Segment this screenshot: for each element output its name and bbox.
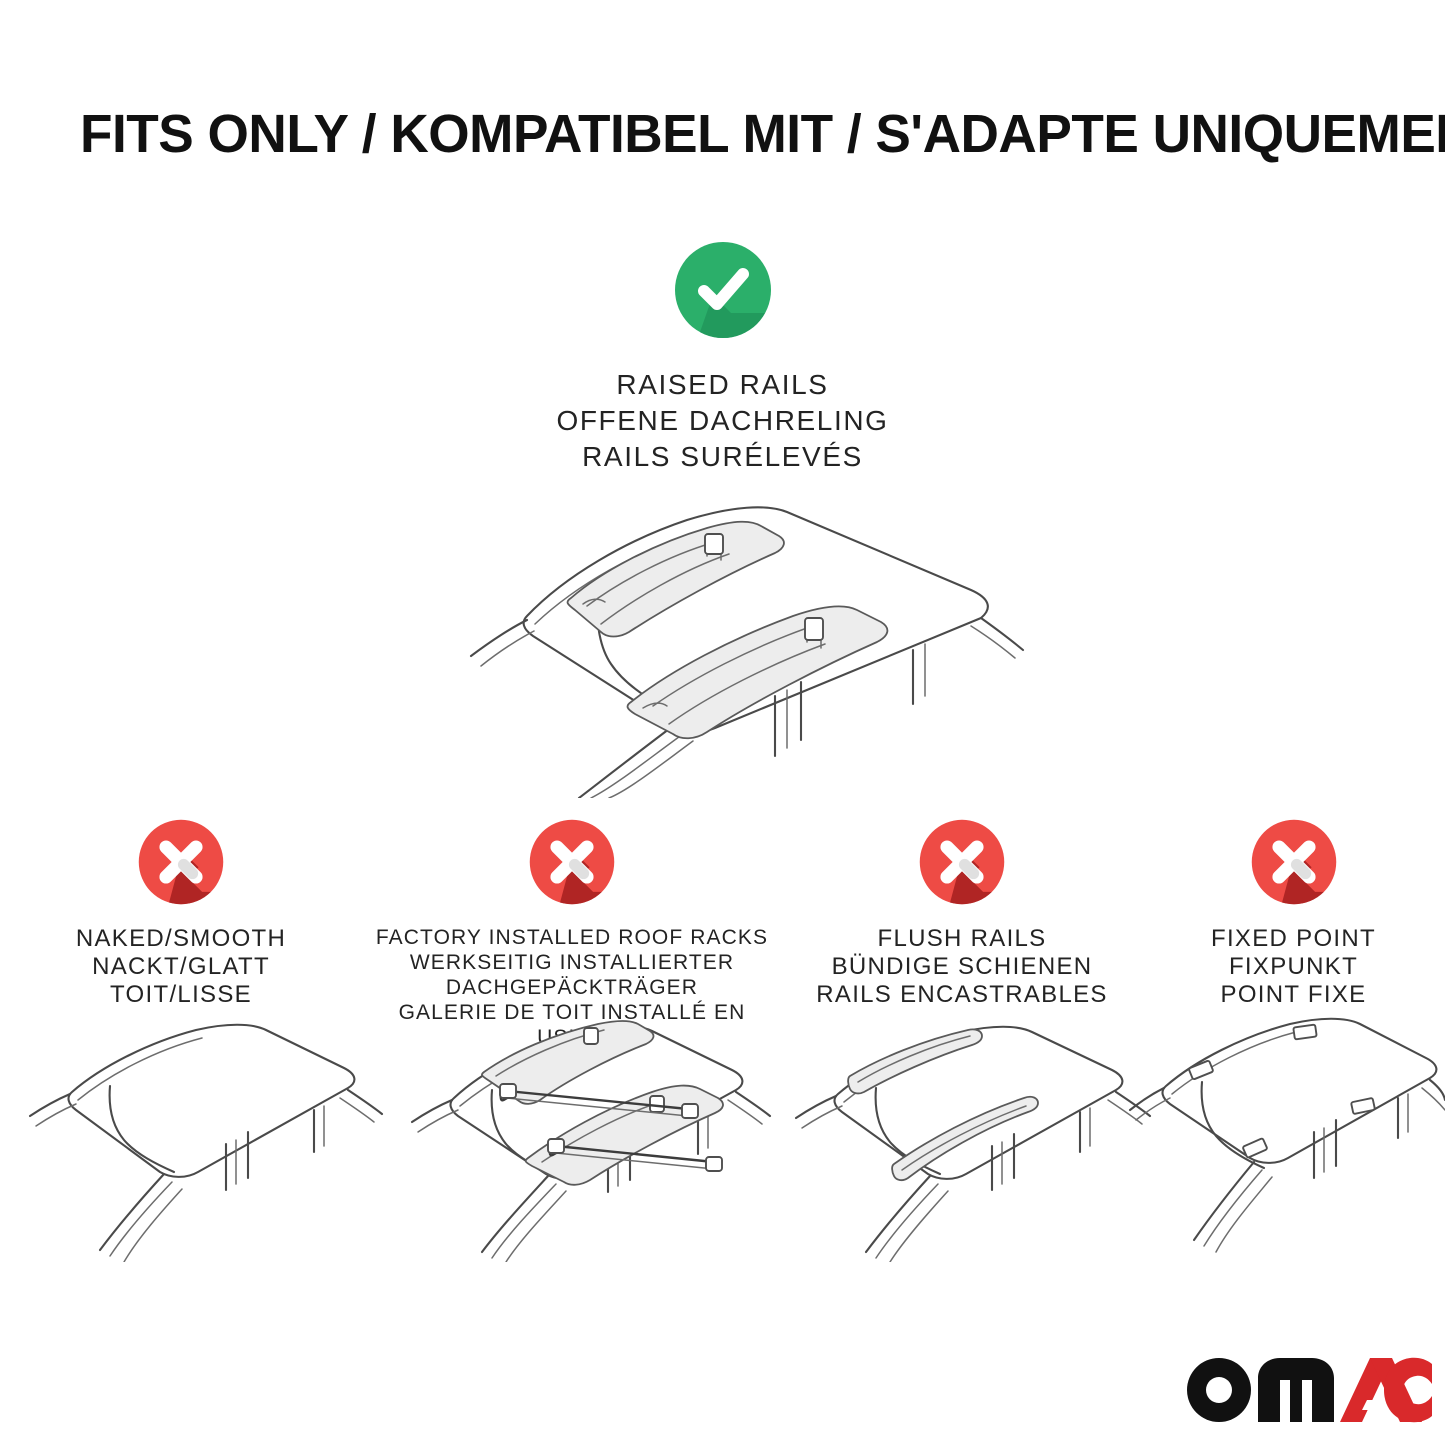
- x-circle-icon: [1250, 818, 1338, 906]
- x-circle-icon: [918, 818, 1006, 906]
- compatible-line-fr: RAILS SURÉLEVÉS: [0, 439, 1445, 475]
- omac-logo: [1186, 1352, 1432, 1424]
- fixed-point-cover: [1293, 1025, 1316, 1040]
- caption-line-de-2: DACHGEPÄCKTRÄGER: [362, 975, 782, 1000]
- compatible-line-en: RAISED RAILS: [0, 367, 1445, 403]
- car-roof-with-factory-cross-bars-illustration: [388, 1012, 776, 1262]
- compatible-line-de: OFFENE DACHRELING: [0, 403, 1445, 439]
- incompatible-section: NAKED/SMOOTH NACKT/GLATT TOIT/LISSE: [0, 818, 1445, 1018]
- x-circle-icon: [137, 818, 225, 906]
- caption-line-fr: POINT FIXE: [1142, 981, 1445, 1009]
- caption-line-de: NACKT/GLATT: [0, 953, 362, 981]
- caption-line-en: FIXED POINT: [1142, 925, 1445, 953]
- caption-line-de-1: WERKSEITIG INSTALLIERTER: [362, 950, 782, 975]
- caption-line-en: NAKED/SMOOTH: [0, 925, 362, 953]
- car-roof-with-flush-rails-illustration: [778, 1012, 1158, 1262]
- fixed-point-cover: [1243, 1138, 1268, 1158]
- car-roof-with-fixed-points-illustration: [1126, 1012, 1445, 1262]
- caption-flush-rails: FLUSH RAILS BÜNDIGE SCHIENEN RAILS ENCAS…: [782, 925, 1142, 1009]
- incompatible-illustrations-row: [0, 1012, 1445, 1262]
- car-roof-naked-smooth-illustration: [14, 1012, 386, 1262]
- incompatible-item-naked-smooth: NAKED/SMOOTH NACKT/GLATT TOIT/LISSE: [0, 818, 362, 1009]
- car-roof-with-raised-rails-illustration: [415, 498, 1035, 798]
- caption-line-fr: RAILS ENCASTRABLES: [782, 981, 1142, 1009]
- logo-letter-o: [1187, 1358, 1251, 1422]
- caption-line-en: FLUSH RAILS: [782, 925, 1142, 953]
- caption-line-fr: TOIT/LISSE: [0, 981, 362, 1009]
- caption-line-de: FIXPUNKT: [1142, 953, 1445, 981]
- page-title: FITS ONLY / KOMPATIBEL MIT / S'ADAPTE UN…: [80, 104, 1353, 164]
- compatible-section: RAISED RAILS OFFENE DACHRELING RAILS SUR…: [0, 240, 1445, 475]
- incompatible-item-flush-rails: FLUSH RAILS BÜNDIGE SCHIENEN RAILS ENCAS…: [782, 818, 1142, 1009]
- caption-naked-smooth: NAKED/SMOOTH NACKT/GLATT TOIT/LISSE: [0, 925, 362, 1009]
- caption-line-de: BÜNDIGE SCHIENEN: [782, 953, 1142, 981]
- compatible-caption: RAISED RAILS OFFENE DACHRELING RAILS SUR…: [0, 367, 1445, 475]
- logo-letter-m: [1258, 1358, 1334, 1422]
- x-circle-icon: [528, 818, 616, 906]
- check-circle-icon: [673, 240, 773, 340]
- incompatible-item-fixed-point: FIXED POINT FIXPUNKT POINT FIXE: [1142, 818, 1445, 1009]
- fixed-point-cover: [1189, 1060, 1214, 1079]
- infographic-canvas: FITS ONLY / KOMPATIBEL MIT / S'ADAPTE UN…: [0, 0, 1445, 1445]
- caption-line-en: FACTORY INSTALLED ROOF RACKS: [362, 925, 782, 950]
- caption-fixed-point: FIXED POINT FIXPUNKT POINT FIXE: [1142, 925, 1445, 1009]
